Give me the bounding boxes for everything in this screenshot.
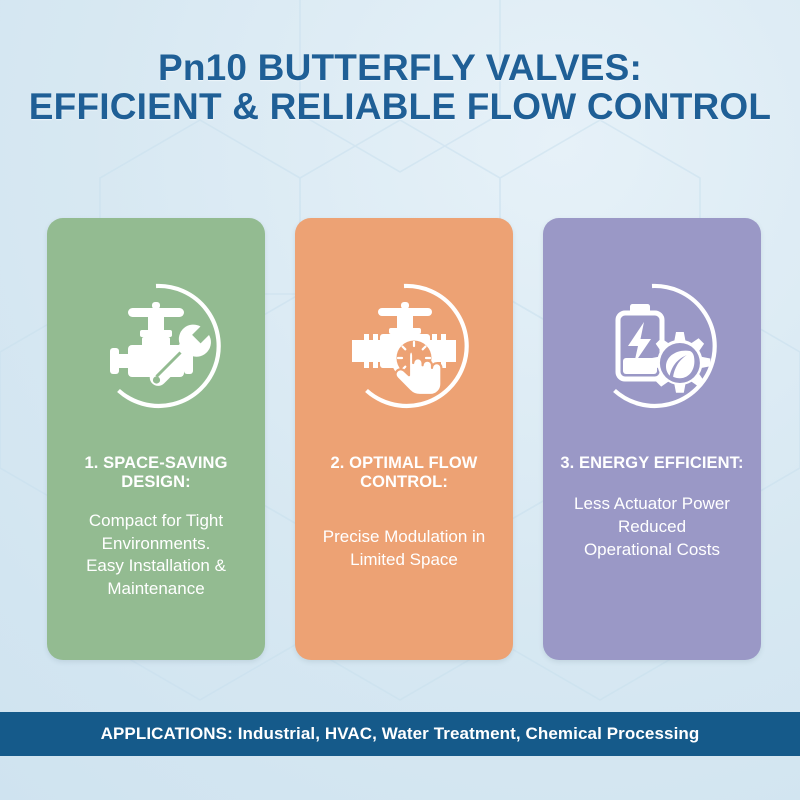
card-body-text: Compact for Tight Environments. Easy Ins… — [58, 510, 254, 601]
applications-footer-text: APPLICATIONS: Industrial, HVAC, Water Tr… — [101, 724, 700, 744]
feature-card-list: 1. SPACE-SAVING DESIGN: Compact for Tigh… — [47, 218, 761, 660]
card-heading: 3. ENERGY EFFICIENT: — [550, 454, 754, 473]
feature-card-energy-efficient[interactable]: 3. ENERGY EFFICIENT: Less Actuator Power… — [543, 218, 761, 660]
page-title: Pn10 BUTTERFLY VALVES: EFFICIENT & RELIA… — [0, 48, 800, 126]
title-line-2: EFFICIENT & RELIABLE FLOW CONTROL — [0, 87, 800, 126]
battery-gear-leaf-icon — [584, 278, 720, 414]
feature-card-space-saving-design[interactable]: 1. SPACE-SAVING DESIGN: Compact for Tigh… — [47, 218, 265, 660]
title-line-1: Pn10 BUTTERFLY VALVES: — [0, 48, 800, 87]
card-heading: 2. OPTIMAL FLOW CONTROL: — [302, 454, 506, 492]
card-heading: 1. SPACE-SAVING DESIGN: — [54, 454, 258, 492]
valve-gauge-hand-icon — [336, 278, 472, 414]
card-body-text: Less Actuator Power Reduced Operational … — [554, 493, 750, 561]
card-body-text: Precise Modulation in Limited Space — [306, 526, 502, 572]
valve-wrench-icon — [88, 278, 224, 414]
infographic-poster: Pn10 BUTTERFLY VALVES: EFFICIENT & RELIA… — [0, 0, 800, 800]
feature-card-optimal-flow-control[interactable]: 2. OPTIMAL FLOW CONTROL: Precise Modulat… — [295, 218, 513, 660]
applications-footer-bar: APPLICATIONS: Industrial, HVAC, Water Tr… — [0, 712, 800, 756]
